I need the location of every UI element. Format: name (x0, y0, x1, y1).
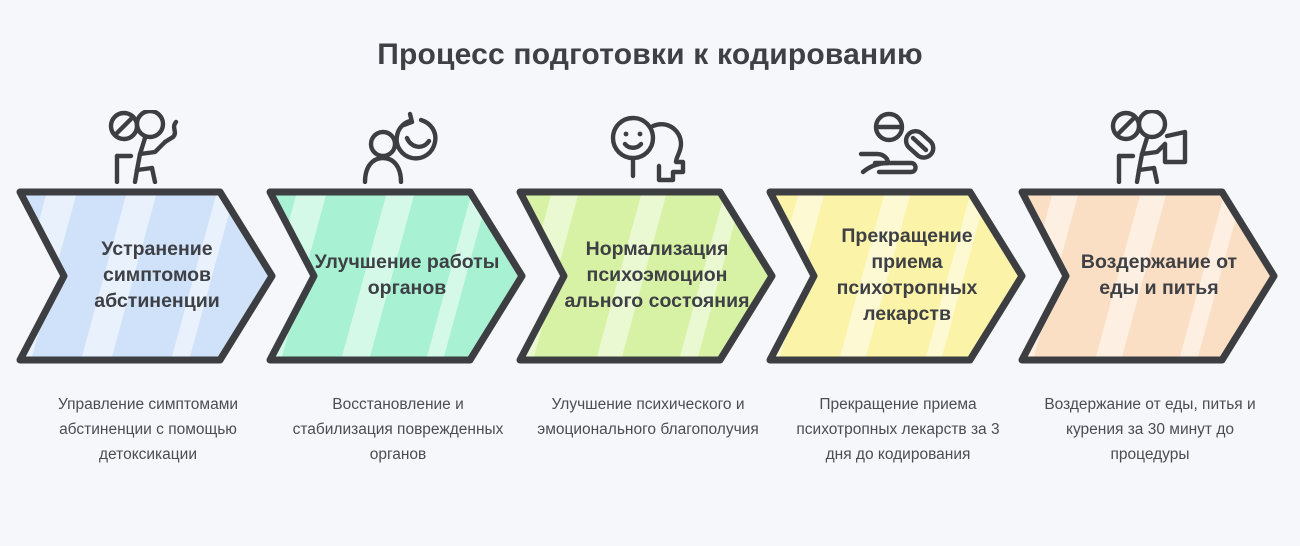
step-caption-1: Управление симптомами абстиненции с помо… (14, 392, 282, 467)
step-caption-5: Воздержание от еды, питья и курения за 3… (1016, 392, 1284, 467)
step-caption-2: Восстановление и стабилизация поврежденн… (264, 392, 532, 467)
no-smoking-person-icon (14, 108, 282, 186)
page-title: Процесс подготовки к кодированию (0, 38, 1300, 72)
hand-holding-pills-icon (764, 108, 1032, 186)
process-step-3[interactable]: Нормализация психоэмоцион ального состоя… (514, 100, 782, 546)
step-caption-4: Прекращение приема психотропных лекарств… (764, 392, 1032, 467)
person-recovery-arrow-icon (264, 108, 532, 186)
process-step-2[interactable]: Улучшение работы органов Восстановление … (264, 100, 532, 546)
chevron-shape-2 (264, 186, 532, 366)
process-step-5[interactable]: Воздержание от еды и питья Воздержание о… (1016, 100, 1284, 546)
chevron-shape-3 (514, 186, 782, 366)
step-caption-3: Улучшение психического и эмоционального … (514, 392, 782, 442)
chevron-shape-5 (1016, 186, 1284, 366)
process-step-4[interactable]: Прекращение приема психотропных лекарств… (764, 100, 1032, 546)
no-eating-person-icon (1016, 108, 1284, 186)
chevron-shape-1 (14, 186, 282, 366)
head-smiley-mind-icon (514, 108, 782, 186)
chevron-shape-4 (764, 186, 1032, 366)
process-step-1[interactable]: Устранение симптомов абстиненции Управле… (14, 100, 282, 546)
process-flow-diagram: Устранение симптомов абстиненции Управле… (0, 100, 1300, 546)
